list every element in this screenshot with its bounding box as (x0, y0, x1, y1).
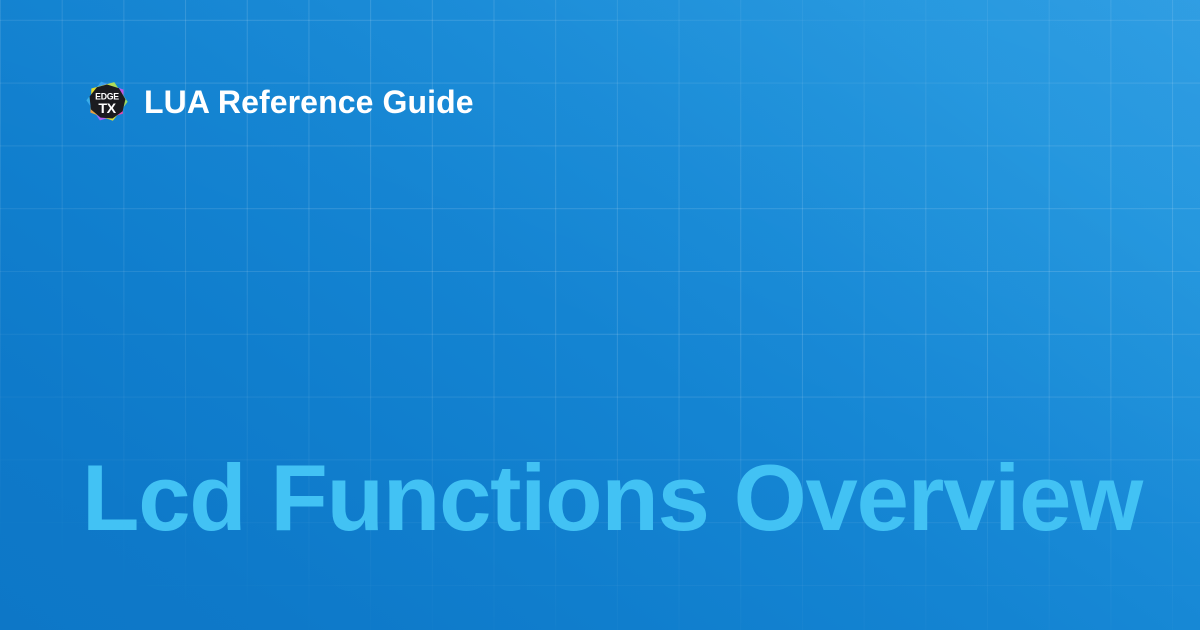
svg-text:EDGE: EDGE (95, 92, 119, 102)
edgetx-logo-icon: EDGE TX (84, 79, 130, 125)
social-card: EDGE TX LUA Reference Guide Lcd Function… (0, 0, 1200, 630)
svg-text:TX: TX (98, 101, 116, 117)
page-title: Lcd Functions Overview (82, 451, 1122, 545)
header-title: LUA Reference Guide (144, 86, 474, 118)
header: EDGE TX LUA Reference Guide (84, 79, 474, 125)
